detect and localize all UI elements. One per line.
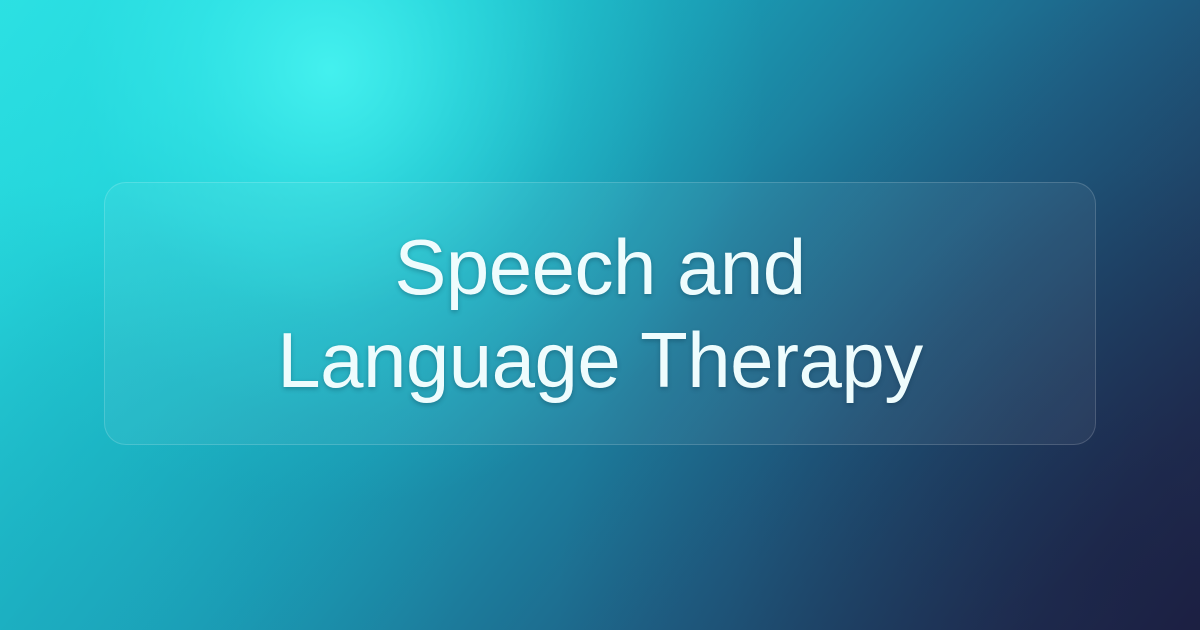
page-title: Speech and Language Therapy [105,221,1095,407]
title-card: Speech and Language Therapy [104,182,1096,445]
hero-banner: Speech and Language Therapy [0,0,1200,630]
